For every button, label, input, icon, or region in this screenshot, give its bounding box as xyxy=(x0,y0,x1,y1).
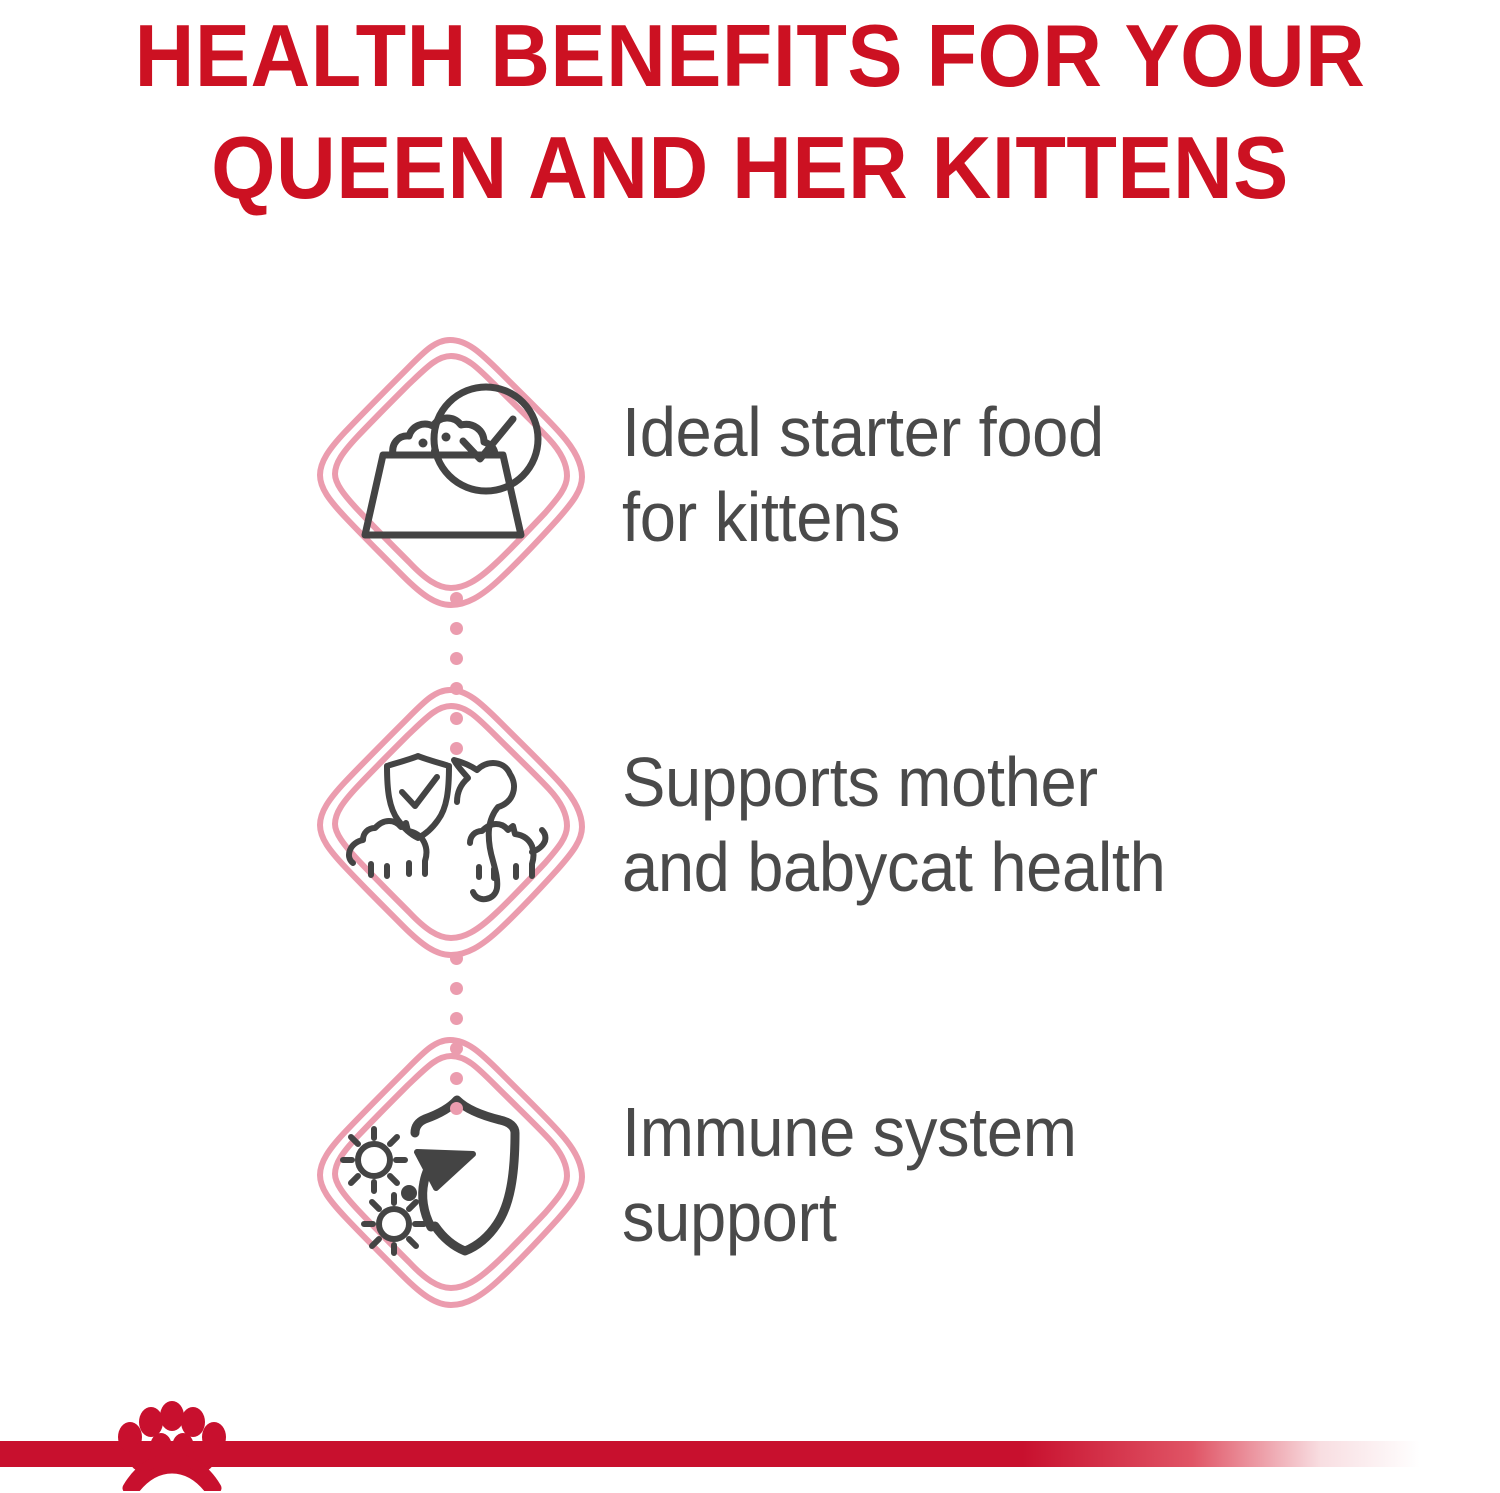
connector-dot xyxy=(450,982,463,995)
title-line-2: QUEEN AND HER KITTENS xyxy=(45,112,1455,224)
connector-dot xyxy=(450,742,463,755)
connector-dots-2-3 xyxy=(449,952,463,1115)
benefit-text-3-line-1: Immune system xyxy=(622,1090,1077,1175)
page-title: HEALTH BENEFITS FOR YOUR QUEEN AND HER K… xyxy=(0,0,1500,224)
connector-dot xyxy=(450,1042,463,1055)
connector-dot xyxy=(450,622,463,635)
connector-dot xyxy=(450,1012,463,1025)
connector-dot xyxy=(450,952,463,965)
benefit-text-1-line-2: for kittens xyxy=(622,475,1104,560)
connector-dot xyxy=(450,682,463,695)
benefit-item-1: Ideal starter food for kittens xyxy=(0,300,1500,650)
germ-dot xyxy=(401,1185,417,1201)
benefit-text-3-line-2: support xyxy=(622,1175,1077,1260)
footer xyxy=(0,1437,1500,1493)
food-bowl-check-icon xyxy=(300,325,600,625)
connector-dot xyxy=(450,712,463,725)
connector-dot xyxy=(450,1072,463,1085)
connector-dot xyxy=(450,1102,463,1115)
germ-top xyxy=(343,1129,405,1191)
benefit-text-2-line-1: Supports mother xyxy=(622,740,1165,825)
benefit-text-2: Supports mother and babycat health xyxy=(622,740,1165,910)
benefit-item-2: Supports mother and babycat health xyxy=(0,650,1500,1000)
germ-bottom xyxy=(364,1195,424,1253)
benefit-item-3: Immune system support xyxy=(0,1000,1500,1350)
royal-canin-crown-logo xyxy=(96,1395,246,1491)
benefits-list: Ideal starter food for kittens xyxy=(0,300,1500,1350)
benefit-text-3: Immune system support xyxy=(622,1090,1077,1260)
connector-dots-1-2 xyxy=(449,592,463,755)
connector-dot xyxy=(450,652,463,665)
benefit-text-1: Ideal starter food for kittens xyxy=(622,390,1104,560)
connector-dot xyxy=(450,592,463,605)
title-line-1: HEALTH BENEFITS FOR YOUR xyxy=(45,0,1455,112)
benefit-text-2-line-2: and babycat health xyxy=(622,825,1165,910)
benefit-text-1-line-1: Ideal starter food xyxy=(622,390,1104,475)
food-bowl-check-icon-svg xyxy=(305,330,595,620)
